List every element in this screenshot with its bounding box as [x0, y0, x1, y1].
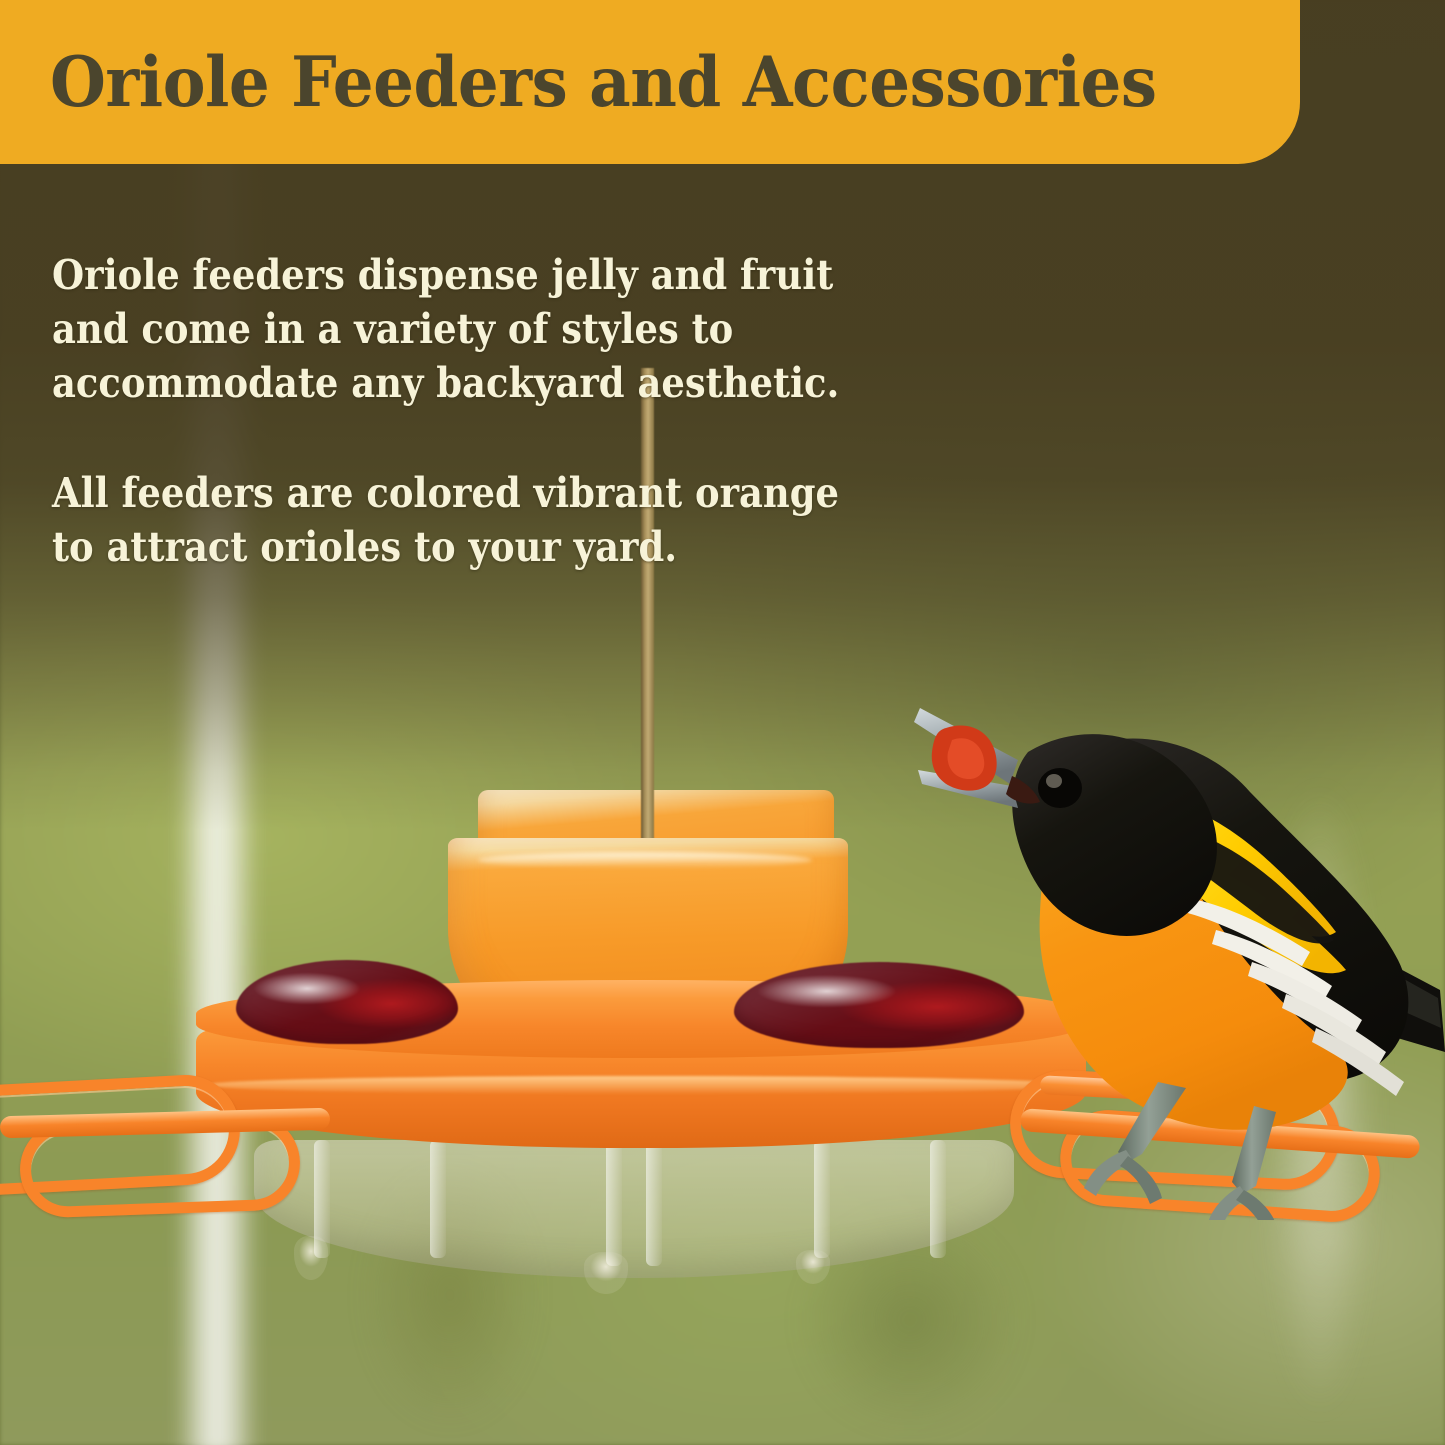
glass-ridge: [606, 1140, 622, 1266]
paragraph-2: All feeders are colored vibrant orange t…: [52, 466, 844, 574]
glass-ridge: [430, 1140, 446, 1258]
paragraph-1: Oriole feeders dispense jelly and fruit …: [52, 248, 844, 410]
poster-root: Oriole Feeders and Accessories Oriole fe…: [0, 0, 1445, 1445]
body-copy: Oriole feeders dispense jelly and fruit …: [52, 248, 932, 574]
bird-eye-highlight: [1046, 774, 1062, 788]
header-banner: Oriole Feeders and Accessories: [0, 0, 1300, 164]
glass-ridge: [646, 1140, 662, 1266]
bird-eye: [1038, 768, 1082, 808]
page-title: Oriole Feeders and Accessories: [50, 42, 1157, 123]
baltimore-oriole: [900, 660, 1445, 1220]
glass-ridge: [814, 1140, 830, 1258]
